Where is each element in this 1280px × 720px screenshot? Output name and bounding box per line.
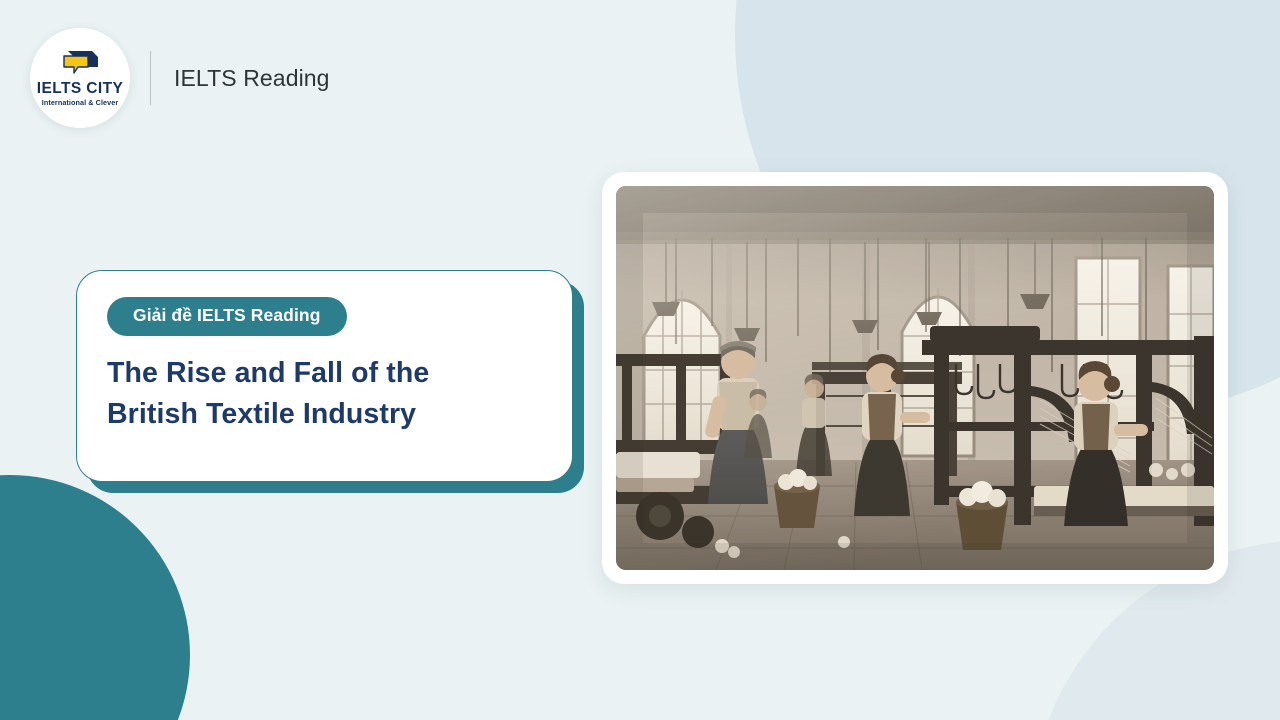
header-divider: [150, 51, 151, 105]
brand-logo[interactable]: IELTS CITY International & Clever: [30, 28, 130, 128]
textile-mill-photo: [616, 186, 1214, 570]
page-title: IELTS Reading: [174, 65, 330, 92]
category-badge: Giải đề IELTS Reading: [107, 297, 347, 336]
article-heading-line-2: British Textile Industry: [107, 394, 542, 435]
article-heading-line-1: The Rise and Fall of the: [107, 353, 542, 394]
brand-logo-name: IELTS CITY: [37, 81, 123, 97]
title-card-wrapper: Giải đề IELTS Reading The Rise and Fall …: [76, 270, 573, 482]
article-image-frame: [602, 172, 1228, 584]
article-heading: The Rise and Fall of the British Textile…: [107, 353, 542, 436]
book-speech-bubble-icon: [58, 49, 102, 79]
decorative-circle-bottom-left: [0, 475, 190, 720]
brand-logo-tagline: International & Clever: [42, 99, 119, 106]
page-header: IELTS CITY International & Clever IELTS …: [30, 28, 330, 128]
title-card: Giải đề IELTS Reading The Rise and Fall …: [76, 270, 573, 482]
